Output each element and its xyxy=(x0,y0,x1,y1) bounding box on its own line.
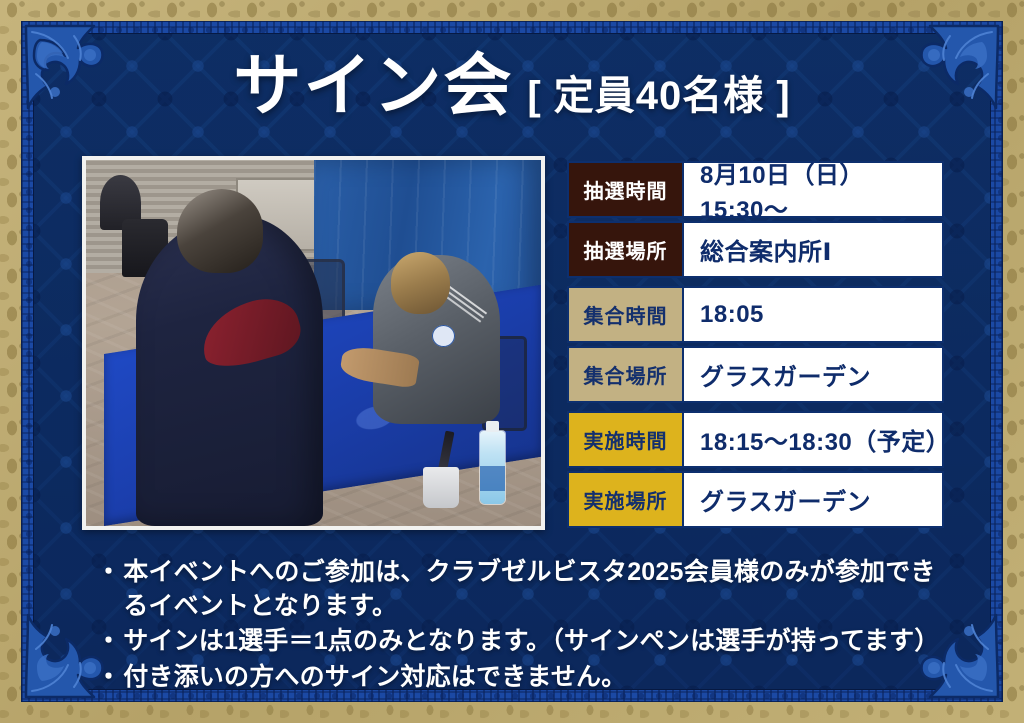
note-text: 付き添いの方へのサイン対応はできません。 xyxy=(123,661,954,695)
table-row: 集合場所 グラスガーデン xyxy=(567,346,944,403)
event-poster: サイン会 [ 定員40名様 ] xyxy=(0,0,1024,723)
row-value: 18:15〜18:30（予定） xyxy=(684,411,944,468)
table-group-meeting: 集合時間 18:05 集合場所 グラスガーデン xyxy=(567,286,944,403)
list-item: ・ 付き添いの方へのサイン対応はできません。 xyxy=(96,661,954,695)
row-label: 集合時間 xyxy=(567,286,684,343)
photo-water-bottle xyxy=(480,431,505,504)
row-value: 総合案内所Ⅰ xyxy=(684,221,944,278)
notes-list: ・ 本イベントへのご参加は、クラブゼルビスタ2025会員様のみが参加できるイベン… xyxy=(96,556,954,696)
photo-fan-head xyxy=(177,189,263,273)
title-capacity-text: [ 定員40名様 ] xyxy=(527,76,790,116)
table-row: 抽選場所 総合案内所Ⅰ xyxy=(567,221,944,278)
row-value: 18:05 xyxy=(684,286,944,343)
row-label: 実施時間 xyxy=(567,411,684,468)
row-label: 抽選場所 xyxy=(567,221,684,278)
bullet-icon: ・ xyxy=(96,661,121,695)
table-row: 実施場所 グラスガーデン xyxy=(567,471,944,528)
list-item: ・ サインは1選手＝1点のみとなります。（サインペンは選手が持ってます） xyxy=(96,625,954,659)
photo-pen-cup xyxy=(423,467,459,507)
bullet-icon: ・ xyxy=(96,556,121,623)
table-row: 実施時間 18:15〜18:30（予定） xyxy=(567,411,944,468)
row-value: 8月10日（日）15:30〜 xyxy=(684,161,944,218)
list-item: ・ 本イベントへのご参加は、クラブゼルビスタ2025会員様のみが参加できるイベン… xyxy=(96,556,954,623)
row-label: 実施場所 xyxy=(567,471,684,528)
row-label: 集合場所 xyxy=(567,346,684,403)
table-row: 集合時間 18:05 xyxy=(567,286,944,343)
row-value: グラスガーデン xyxy=(684,346,944,403)
title-main-text: サイン会 xyxy=(233,52,513,120)
table-group-event: 実施時間 18:15〜18:30（予定） 実施場所 グラスガーデン xyxy=(567,411,944,528)
photo-club-emblem xyxy=(432,325,455,347)
row-label: 抽選時間 xyxy=(567,161,684,218)
table-group-lottery: 抽選時間 8月10日（日）15:30〜 抽選場所 総合案内所Ⅰ xyxy=(567,161,944,278)
bullet-icon: ・ xyxy=(96,625,121,659)
note-text: 本イベントへのご参加は、クラブゼルビスタ2025会員様のみが参加できるイベントと… xyxy=(123,556,954,623)
signing-session-photo xyxy=(82,156,545,530)
page-title: サイン会 [ 定員40名様 ] xyxy=(0,52,1024,120)
event-info-table: 抽選時間 8月10日（日）15:30〜 抽選場所 総合案内所Ⅰ 集合時間 18:… xyxy=(567,161,944,528)
photo-player-head xyxy=(391,252,450,314)
table-row: 抽選時間 8月10日（日）15:30〜 xyxy=(567,161,944,218)
photo-inner xyxy=(86,160,541,526)
note-text: サインは1選手＝1点のみとなります。（サインペンは選手が持ってます） xyxy=(123,625,954,659)
row-value: グラスガーデン xyxy=(684,471,944,528)
